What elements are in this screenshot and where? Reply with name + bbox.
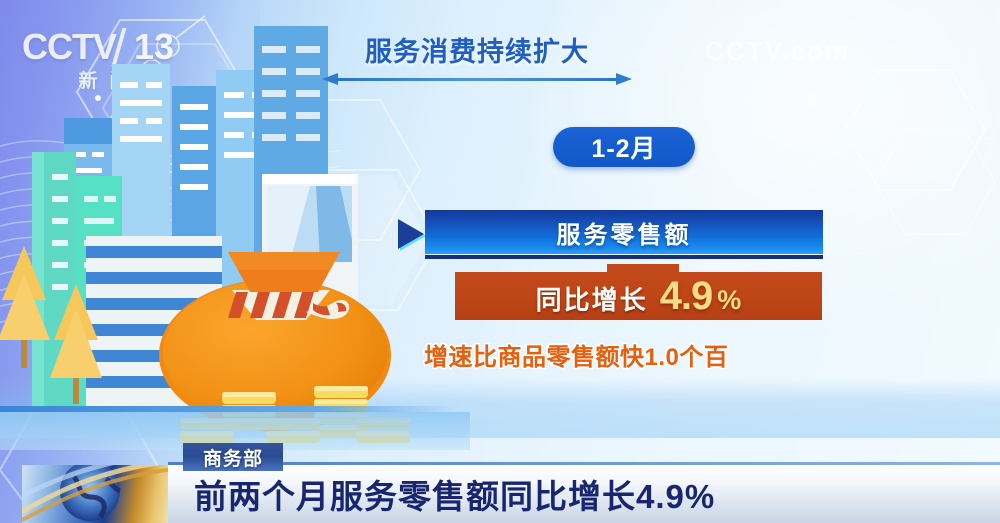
growth-value: 4.9 [660, 274, 713, 319]
metric-underline [425, 255, 823, 259]
source-tag-label: 商务部 [203, 444, 263, 471]
lower-third-headline: 前两个月服务零售额同比增长4.9% [168, 465, 1000, 523]
period-badge: 1-2月 [553, 127, 695, 167]
metric-arrow-icon [398, 219, 424, 249]
lower-third-banner: 前两个月服务零售额同比增长4.9% [0, 463, 1000, 523]
headline-text: 前两个月服务零售额同比增长4.9% [194, 470, 715, 518]
period-badge-label: 1-2月 [591, 129, 656, 165]
comparison-note: 增速比商品零售额快1.0个百 [424, 337, 728, 372]
broadcast-frame: CCTV.com CCTV 13 新闻 [0, 0, 1000, 523]
source-tag: 商务部 [183, 443, 283, 471]
growth-bar: 同比增长 4.9 % [455, 272, 822, 320]
heading-rule [322, 73, 632, 85]
heading-arrow-right-icon [616, 73, 632, 85]
metric-bar-row: 服务零售额 [398, 210, 823, 258]
globe-icon [22, 465, 170, 523]
growth-unit: % [717, 285, 741, 316]
metric-label: 服务零售额 [557, 215, 692, 250]
growth-prefix-label: 同比增长 [536, 280, 648, 317]
metric-bar: 服务零售额 [425, 210, 823, 254]
heading-underline [336, 78, 618, 81]
heading-text: 服务消费持续扩大 [322, 30, 632, 69]
cctv-watermark: CCTV.com [705, 36, 850, 67]
graphic-heading: 服务消费持续扩大 [322, 30, 632, 85]
